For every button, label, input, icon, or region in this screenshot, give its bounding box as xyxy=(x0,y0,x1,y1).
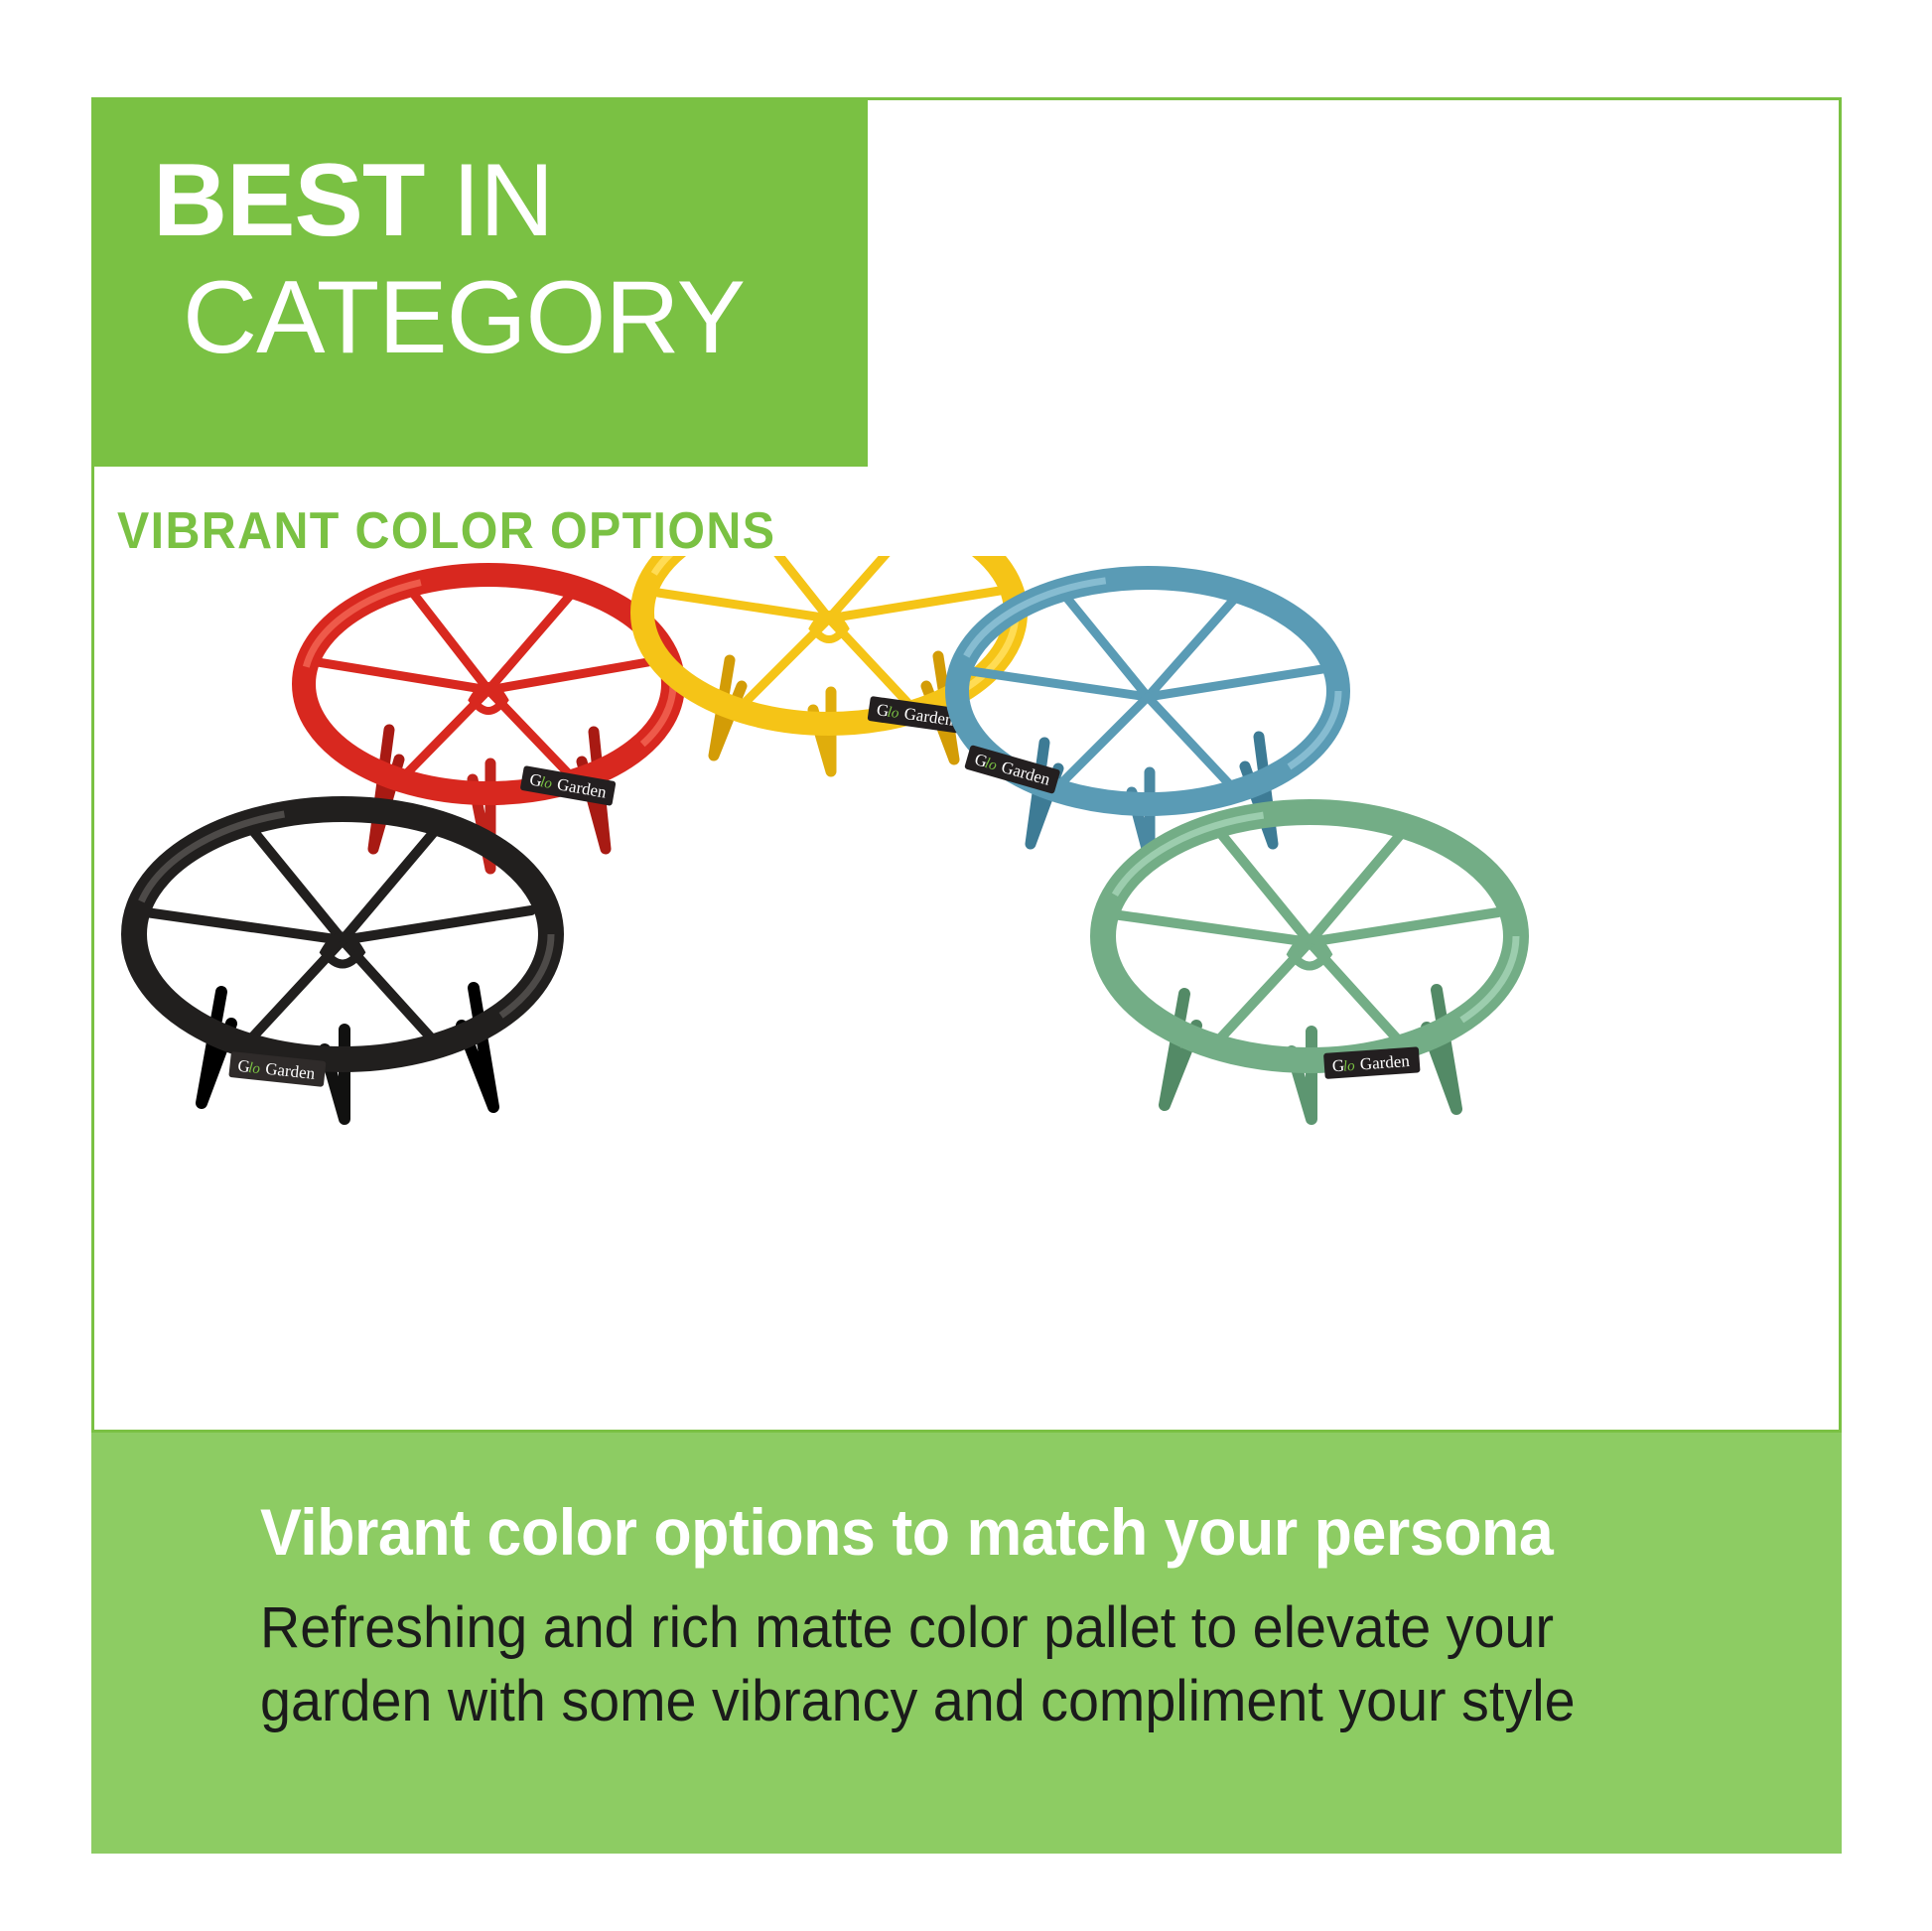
badge-title-best: BEST xyxy=(153,143,424,258)
svg-text:lo: lo xyxy=(247,1060,261,1077)
section-label-vibrant-color-options: VIBRANT COLOR OPTIONS xyxy=(117,501,775,561)
badge-title-in: IN xyxy=(424,143,553,258)
footer-body-line1: Refreshing and rich matte color pallet t… xyxy=(260,1591,1499,1665)
svg-text:Garden: Garden xyxy=(1359,1051,1411,1073)
badge-title-line1: BEST IN xyxy=(153,142,868,259)
footer-body: Refreshing and rich matte color pallet t… xyxy=(260,1591,1499,1738)
best-in-category-badge: BEST IN CATEGORY xyxy=(91,97,868,467)
footer-headline: Vibrant color options to match your pers… xyxy=(260,1494,1553,1570)
product-photo-stage: G lo Garden xyxy=(94,556,1839,1430)
svg-text:lo: lo xyxy=(1342,1058,1355,1075)
footer-message-block: Vibrant color options to match your pers… xyxy=(91,1433,1842,1854)
product-infographic-canvas: BEST IN CATEGORY VIBRANT COLOR OPTIONS xyxy=(0,0,1932,1931)
plant-stand-green: G lo Garden xyxy=(1077,769,1544,1137)
plant-stand-black: G lo Garden xyxy=(104,769,571,1137)
badge-title-line2: CATEGORY xyxy=(183,259,745,376)
footer-body-line2: garden with some vibrancy and compliment… xyxy=(260,1665,1499,1738)
